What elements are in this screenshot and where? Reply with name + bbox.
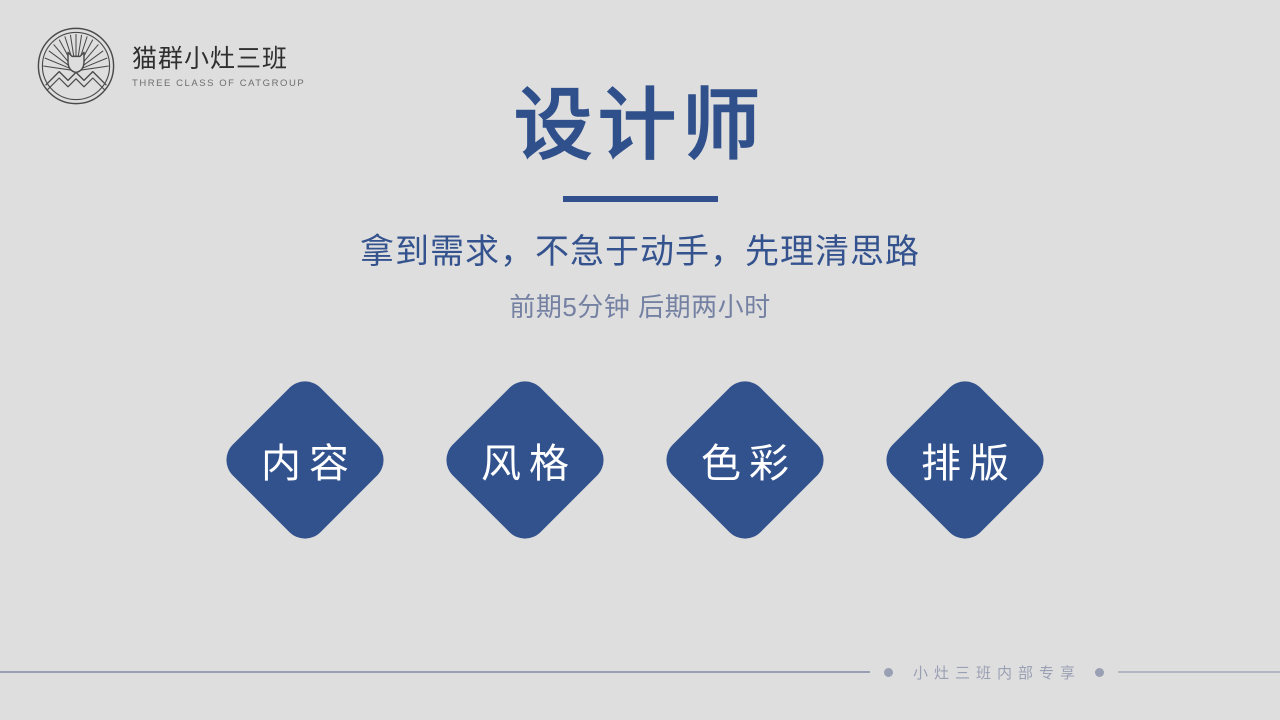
diamond-shape (437, 372, 612, 547)
brand-text-block: 猫群小灶三班 THREE CLASS OF CATGROUP (132, 43, 305, 90)
diamond-card-content[interactable]: 内容 (217, 372, 393, 548)
page-title: 设计师 (0, 86, 1280, 166)
diamond-shape (657, 372, 832, 547)
diamond-shape (217, 372, 392, 547)
diamond-shape (877, 372, 1052, 547)
diamond-row: 内容 风格 色彩 排版 (0, 372, 1280, 548)
diamond-card-style[interactable]: 风格 (437, 372, 613, 548)
diamond-card-color[interactable]: 色彩 (657, 372, 833, 548)
slide-canvas: 猫群小灶三班 THREE CLASS OF CATGROUP 设计师 拿到需求，… (0, 0, 1280, 720)
title-block: 设计师 (0, 86, 1280, 202)
footer-divider-right (1118, 671, 1280, 673)
brand-name: 猫群小灶三班 (132, 45, 305, 74)
footer-dot-right-icon (1095, 668, 1104, 677)
diamond-card-layout[interactable]: 排版 (877, 372, 1053, 548)
footer-divider-left (0, 671, 870, 673)
title-underline-rule (563, 196, 718, 202)
subtitle-primary: 拿到需求，不急于动手，先理清思路 (0, 224, 1280, 273)
footer-dot-left-icon (884, 668, 893, 677)
subtitle-secondary: 前期5分钟 后期两小时 (0, 287, 1280, 324)
footer-text: 小灶三班内部专享 (907, 662, 1081, 683)
footer-bar: 小灶三班内部专享 (0, 656, 1280, 688)
